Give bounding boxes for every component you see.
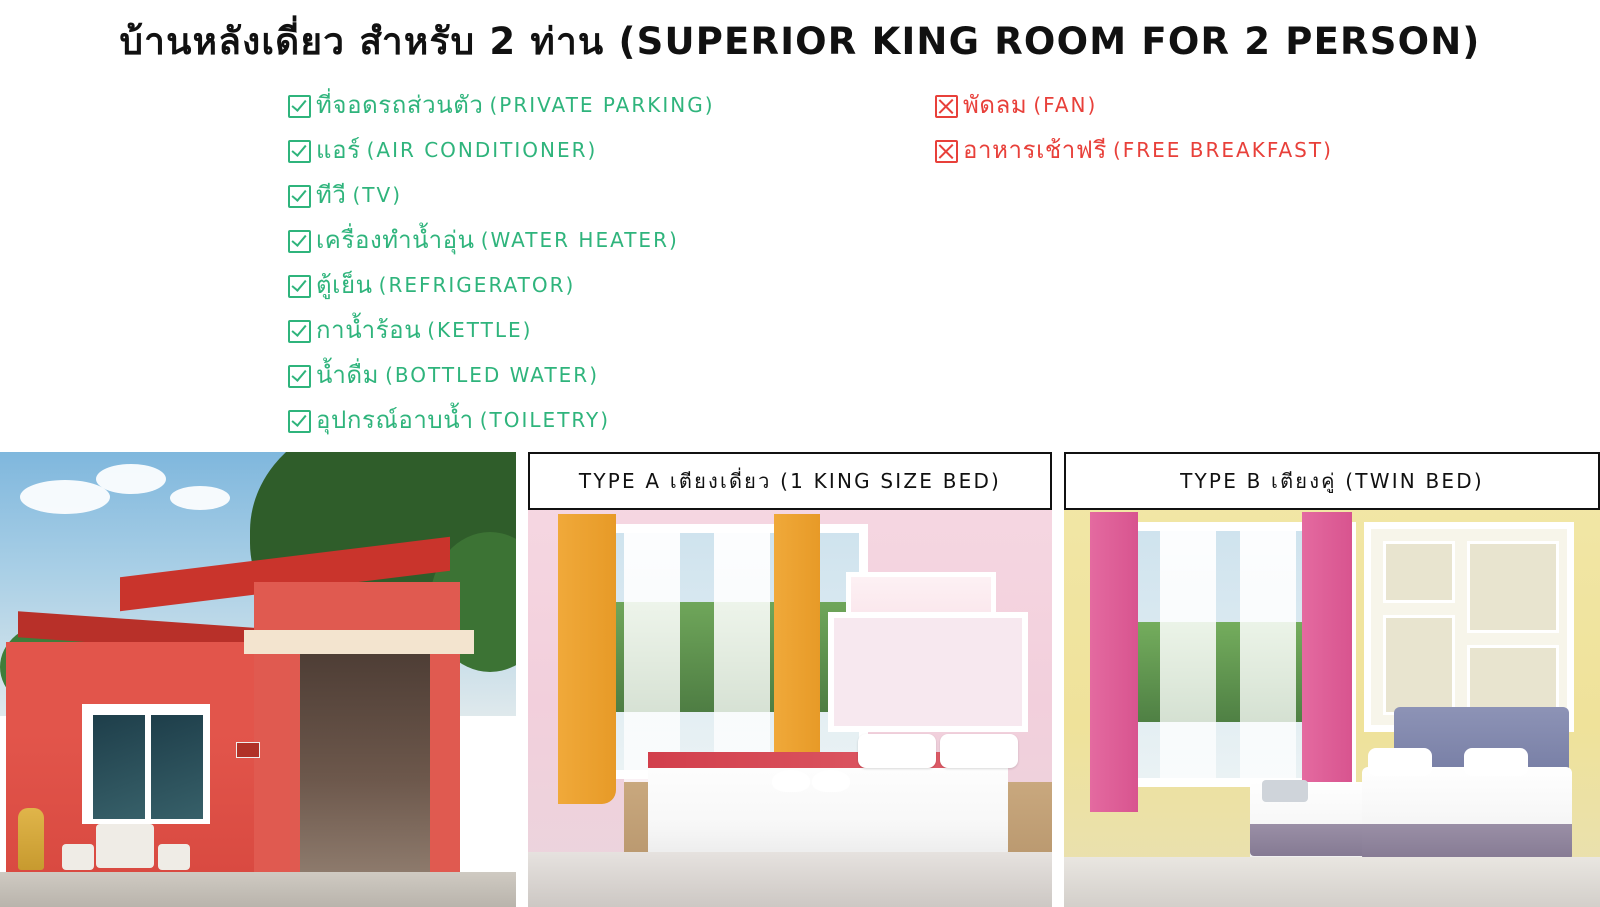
amenity-label-th: ที่จอดรถส่วนตัว (316, 83, 484, 128)
headboard (828, 612, 1028, 732)
amenity-label-en: (KETTLE) (427, 308, 532, 353)
room-type-b-photo: TYPE B เตียงคู่ (TWIN BED) (1064, 452, 1600, 907)
front-window (82, 704, 210, 824)
pillow (1368, 748, 1432, 776)
folded-towels (1262, 780, 1308, 802)
amenity-label-en: (AIR CONDITIONER) (367, 128, 598, 173)
patio-stool (158, 844, 190, 870)
amenities-excluded-column: พัดลม (FAN) อาหารเช้าฟรี (FREE BREAKFAST… (935, 83, 1333, 173)
amenity-label-th: อุปกรณ์อาบน้ำ (316, 398, 474, 443)
amenity-label-th: พัดลม (963, 83, 1027, 128)
amenity-air-conditioner: แอร์ (AIR CONDITIONER) (288, 128, 715, 173)
cloud (20, 480, 110, 514)
floor (528, 852, 1052, 907)
amenity-label-en: (FREE BREAKFAST) (1113, 128, 1333, 173)
checkbox-crossed-icon (935, 95, 958, 118)
checkbox-checked-icon (288, 410, 311, 433)
amenity-label-th: ทีวี (316, 173, 347, 218)
amenity-label-th: เครื่องทำน้ำอุ่น (316, 218, 475, 263)
amenity-label-th: ตู้เย็น (316, 263, 373, 308)
amenity-bottled-water: น้ำดื่ม (BOTTLED WATER) (288, 353, 715, 398)
sheer-curtain (714, 524, 770, 784)
amenity-label-en: (REFRIGERATOR) (379, 263, 576, 308)
amenity-private-parking: ที่จอดรถส่วนตัว (PRIVATE PARKING) (288, 83, 715, 128)
pillow (1464, 748, 1528, 776)
amenities-section: ที่จอดรถส่วนตัว (PRIVATE PARKING) แอร์ (… (0, 83, 1600, 438)
checkbox-checked-icon (288, 365, 311, 388)
amenity-kettle: กาน้ำร้อน (KETTLE) (288, 308, 715, 353)
amenity-free-breakfast: อาหารเช้าฟรี (FREE BREAKFAST) (935, 128, 1333, 173)
curtain-right (774, 514, 820, 764)
towel-swan (812, 770, 850, 792)
sheer-curtain (1160, 528, 1216, 778)
ground (0, 872, 516, 907)
checkbox-crossed-icon (935, 140, 958, 163)
window-pane (151, 715, 203, 819)
page-title: บ้านหลังเดี่ยว สำหรับ 2 ท่าน (SUPERIOR K… (0, 0, 1600, 63)
pillow (858, 734, 936, 768)
patio-stool (62, 844, 94, 870)
checkbox-checked-icon (288, 230, 311, 253)
amenity-tv: ทีวี (TV) (288, 173, 715, 218)
window-pane (93, 715, 145, 819)
amenities-included-column: ที่จอดรถส่วนตัว (PRIVATE PARKING) แอร์ (… (288, 83, 715, 443)
garden-statue (18, 808, 44, 870)
amenity-water-heater: เครื่องทำน้ำอุ่น (WATER HEATER) (288, 218, 715, 263)
cloud (96, 464, 166, 494)
curtain-left (558, 514, 616, 804)
shelf-cell (1467, 645, 1559, 715)
sheer-curtain (1240, 528, 1296, 778)
amenity-toiletry: อุปกรณ์อาบน้ำ (TOILETRY) (288, 398, 715, 443)
sheer-curtain (624, 524, 680, 784)
amenity-label-en: (TOILETRY) (480, 398, 610, 443)
amenity-label-th: กาน้ำร้อน (316, 308, 421, 353)
wall-shelf-unit (1364, 522, 1574, 732)
awning (244, 630, 474, 654)
room-b-scene (1064, 452, 1600, 907)
checkbox-checked-icon (288, 320, 311, 343)
caption-text: TYPE B เตียงคู่ (TWIN BED) (1180, 465, 1484, 497)
caption-text: TYPE A เตียงเดี่ยว (1 KING SIZE BED) (579, 465, 1001, 497)
amenity-label-en: (WATER HEATER) (481, 218, 679, 263)
amenity-label-th: อาหารเช้าฟรี (963, 128, 1107, 173)
room-number-plate (236, 742, 260, 758)
amenity-label-en: (FAN) (1033, 83, 1097, 128)
patio-table (96, 824, 154, 868)
amenity-fan: พัดลม (FAN) (935, 83, 1333, 128)
checkbox-checked-icon (288, 275, 311, 298)
exterior-house-photo (0, 452, 516, 907)
checkbox-checked-icon (288, 140, 311, 163)
amenity-label-en: (BOTTLED WATER) (385, 353, 599, 398)
room-a-scene (528, 452, 1052, 907)
pillow (940, 734, 1018, 768)
curtain-right (1302, 512, 1352, 812)
room-type-a-photo: TYPE A เตียงเดี่ยว (1 KING SIZE BED) (528, 452, 1052, 907)
room-type-a-caption: TYPE A เตียงเดี่ยว (1 KING SIZE BED) (528, 452, 1052, 510)
shelf-cell (1383, 615, 1455, 715)
shelf-cell (1467, 541, 1559, 633)
photo-strip: TYPE A เตียงเดี่ยว (1 KING SIZE BED) (0, 452, 1600, 907)
amenity-refrigerator: ตู้เย็น (REFRIGERATOR) (288, 263, 715, 308)
cloud (170, 486, 230, 510)
curtain-left (1090, 512, 1138, 812)
amenity-label-en: (TV) (353, 173, 403, 218)
shelf-cell (1383, 541, 1455, 603)
amenity-label-th: แอร์ (316, 128, 361, 173)
bed-runner-right (1362, 824, 1572, 860)
amenity-label-en: (PRIVATE PARKING) (490, 83, 715, 128)
floor (1064, 857, 1600, 907)
towel-swan (772, 770, 810, 792)
checkbox-checked-icon (288, 185, 311, 208)
room-type-b-caption: TYPE B เตียงคู่ (TWIN BED) (1064, 452, 1600, 510)
carport-passage (300, 642, 430, 872)
house-scene (0, 452, 516, 907)
checkbox-checked-icon (288, 95, 311, 118)
amenity-label-th: น้ำดื่ม (316, 353, 379, 398)
promo-page: บ้านหลังเดี่ยว สำหรับ 2 ท่าน (SUPERIOR K… (0, 0, 1600, 907)
